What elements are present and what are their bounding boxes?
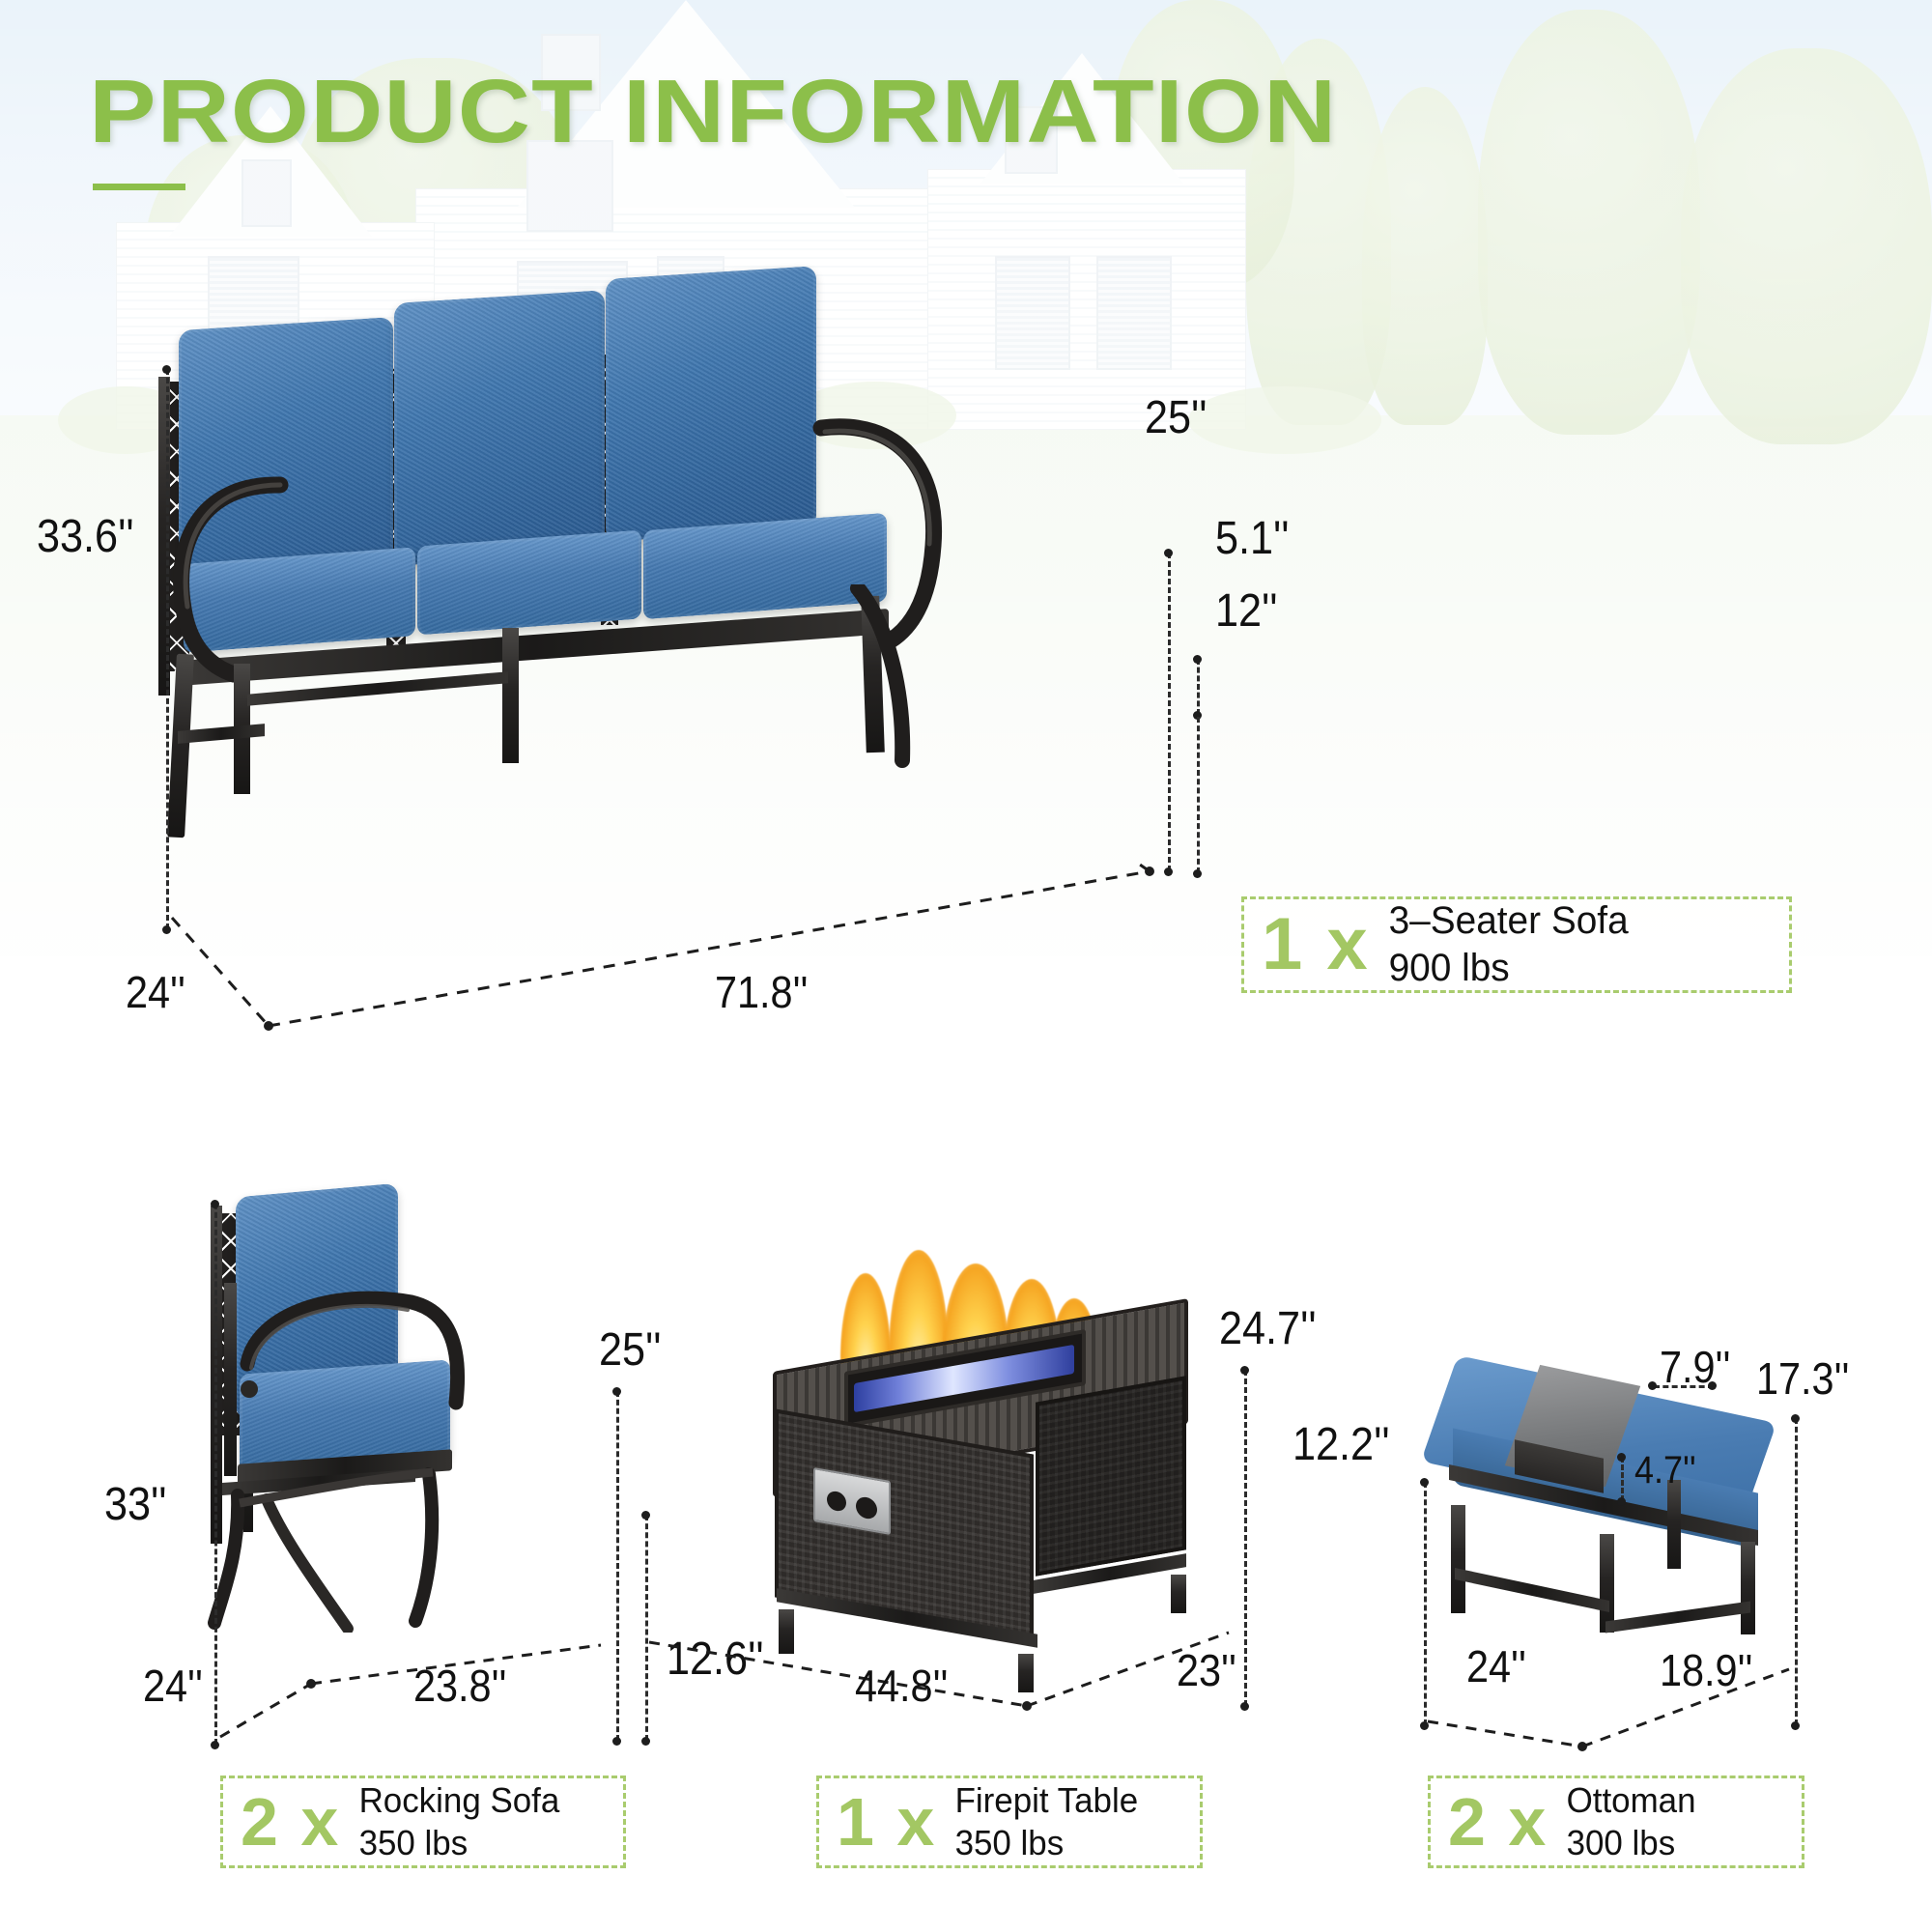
page-header: PRODUCT INFORMATION — [89, 60, 1204, 163]
firepit-dim-length: 44.8'' — [855, 1660, 948, 1712]
rocker-arm — [232, 1285, 473, 1463]
firepit-height-dot-top — [1240, 1366, 1249, 1375]
ottoman-frame-dot-top — [1420, 1478, 1429, 1487]
sofa-leg — [502, 628, 519, 763]
rocker-dim-depth: 24'' — [143, 1660, 203, 1712]
firepit-dim-height: 24.7'' — [1219, 1302, 1317, 1355]
sofa-cushion-dot-top — [1193, 655, 1202, 664]
legend-product-name: Rocking Sofa — [359, 1779, 560, 1822]
firepit-dim-width: 23'' — [1177, 1644, 1236, 1696]
legend-quantity: 2 x — [223, 1788, 346, 1856]
rocker-dim-width: 23.8'' — [413, 1660, 506, 1712]
ottoman-overall-dot-top — [1791, 1414, 1800, 1423]
sofa-arm-dot-top — [1164, 549, 1173, 557]
legend-product-name: 3–Seater Sofa — [1388, 897, 1628, 945]
sofa-cushion-dot-bottom — [1193, 711, 1202, 720]
rocker-dim-arm-height: 25'' — [599, 1323, 662, 1377]
sofa-dim-height: 33.6'' — [37, 510, 134, 563]
rocker-seat-dot-top — [641, 1511, 650, 1520]
ottoman-frame-dot-bottom — [1420, 1721, 1429, 1730]
legend-quantity: 2 x — [1431, 1788, 1553, 1856]
legend-text: Rocking Sofa 350 lbs — [346, 1779, 559, 1864]
sofa-seat-dot-bottom — [1193, 869, 1202, 878]
sofa-dim-cushion: 5.1'' — [1215, 512, 1290, 565]
sofa-stretcher — [178, 724, 265, 744]
ottoman-dim-tray-width: 7.9'' — [1660, 1341, 1730, 1393]
firepit-body-side — [1036, 1376, 1186, 1577]
rocker-spring-base — [201, 1439, 491, 1633]
rocker-arm-dot-top — [612, 1387, 621, 1396]
sofa-dim-seat-height: 12'' — [1215, 584, 1278, 638]
ottoman-stretcher — [1605, 1601, 1750, 1633]
sofa-dim-arm-height: 25'' — [1145, 391, 1207, 444]
rocker-arm-dot-bottom — [612, 1737, 621, 1746]
title-underline — [93, 184, 185, 190]
firepit-leg — [1018, 1654, 1034, 1692]
rocker-height-dot-bottom — [211, 1741, 219, 1749]
ottoman-dim-overall-height: 17.3'' — [1756, 1352, 1849, 1405]
sofa-height-dot-bottom — [162, 925, 171, 934]
ottoman-cushion-dot-top — [1617, 1453, 1626, 1462]
page-title: PRODUCT INFORMATION — [89, 60, 1337, 163]
sofa-height-dot-top — [162, 365, 171, 374]
sofa-arm-dot-bottom — [1164, 867, 1173, 876]
ottoman-dim-frame-height: 12.2'' — [1293, 1418, 1390, 1471]
rocker-dim-height: 33'' — [104, 1478, 167, 1531]
ottoman-dim-depth: 18.9'' — [1660, 1644, 1752, 1696]
firepit-leg — [779, 1609, 794, 1654]
sofa-leg-curved — [802, 584, 927, 768]
ottoman-overall-dot-bottom — [1791, 1721, 1800, 1730]
firepit-table-illustration — [773, 1285, 1227, 1662]
legend-text: Ottoman 300 lbs — [1553, 1779, 1696, 1864]
sofa-dim-width: 71.8'' — [715, 966, 808, 1018]
ottoman-leg — [1667, 1480, 1681, 1569]
sofa-seat-cushion — [417, 529, 641, 635]
legend-firepit-table[interactable]: 1 x Firepit Table 350 lbs — [816, 1776, 1203, 1868]
legend-text: Firepit Table 350 lbs — [942, 1779, 1138, 1864]
ottoman-cushion-dot-bottom — [1617, 1497, 1626, 1506]
legend-quantity: 1 x — [1244, 908, 1376, 981]
ottoman-stretcher — [1455, 1568, 1609, 1612]
sofa-back-cushion — [606, 266, 816, 542]
ottoman-tray-dot-left — [1648, 1381, 1657, 1390]
legend-product-weight: 300 lbs — [1567, 1822, 1696, 1864]
legend-three-seater-sofa[interactable]: 1 x 3–Seater Sofa 900 lbs — [1241, 896, 1792, 993]
legend-ottoman[interactable]: 2 x Ottoman 300 lbs — [1428, 1776, 1804, 1868]
legend-product-name: Ottoman — [1567, 1779, 1696, 1822]
legend-product-weight: 900 lbs — [1388, 945, 1628, 992]
legend-product-name: Firepit Table — [955, 1779, 1139, 1822]
sofa-back-cushion — [394, 290, 605, 566]
ottoman-leg — [1741, 1542, 1755, 1634]
legend-text: 3–Seater Sofa 900 lbs — [1376, 897, 1629, 992]
legend-product-weight: 350 lbs — [955, 1822, 1139, 1864]
sofa-dim-depth: 24'' — [126, 966, 185, 1018]
legend-rocking-sofa[interactable]: 2 x Rocking Sofa 350 lbs — [220, 1776, 626, 1868]
ottoman-dim-width: 24'' — [1466, 1640, 1526, 1692]
firepit-height-dot-bottom — [1240, 1702, 1249, 1711]
legend-quantity: 1 x — [819, 1788, 942, 1856]
three-seater-sofa-illustration — [145, 382, 1159, 961]
ottoman-leg — [1451, 1505, 1465, 1613]
firepit-leg — [1171, 1575, 1186, 1613]
ottoman-dim-cushion-thickness: 4.7'' — [1634, 1449, 1696, 1492]
ottoman-leg — [1600, 1534, 1614, 1633]
rocking-sofa-illustration — [193, 1198, 599, 1642]
legend-product-weight: 350 lbs — [359, 1822, 560, 1864]
rocker-dim-seat-height: 12.6'' — [667, 1633, 764, 1686]
rocker-seat-dot-bottom — [641, 1737, 650, 1746]
rocker-height-dot-top — [211, 1200, 219, 1208]
